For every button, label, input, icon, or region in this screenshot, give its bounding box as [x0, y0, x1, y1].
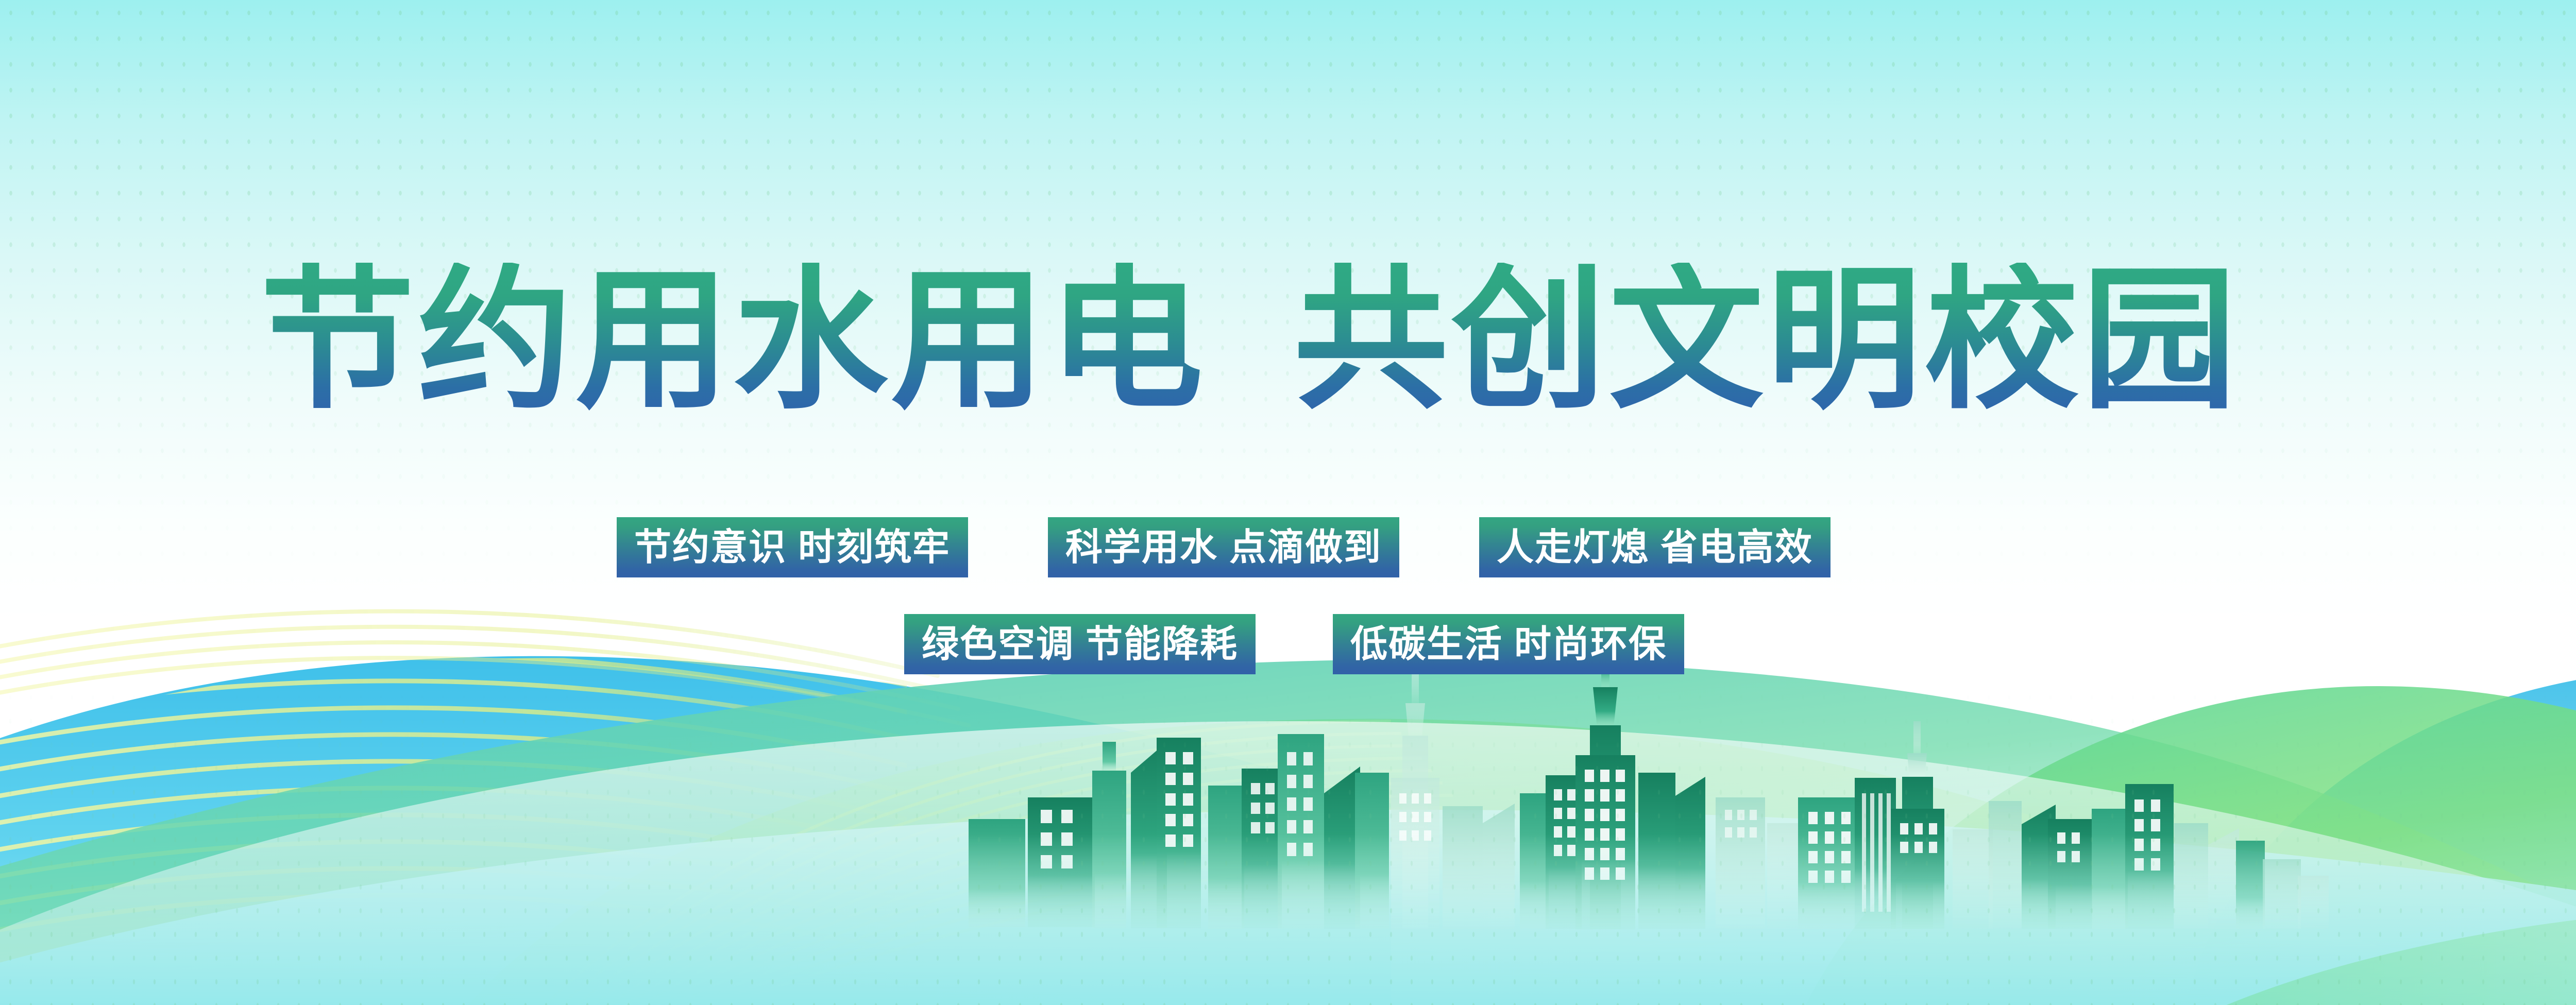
banner-title: 节约用水用电 共创文明校园 — [260, 242, 2576, 438]
slogan-badge: 低碳生活 时尚环保 — [1333, 614, 1684, 674]
slogan-badge: 绿色空调 节能降耗 — [904, 614, 1256, 674]
slogan-badge: 科学用水 点滴做到 — [1048, 517, 1399, 577]
slogan-row-top: 节约意识 时刻筑牢 科学用水 点滴做到 人走灯熄 省电高效 — [617, 517, 1831, 577]
title-part-2: 共创文明校园 — [1294, 263, 2240, 417]
eco-campaign-banner: 节约用水用电 共创文明校园 节约意识 时刻筑牢 科学用水 点滴做到 人走灯熄 省… — [0, 0, 2576, 1005]
slogan-row-bottom: 绿色空调 节能降耗 低碳生活 时尚环保 — [904, 614, 1684, 674]
slogan-badge: 节约意识 时刻筑牢 — [617, 517, 968, 577]
title-part-1: 节约用水用电 — [260, 263, 1206, 417]
background-dot-pattern-bottom — [0, 686, 2576, 1005]
slogan-badge: 人走灯熄 省电高效 — [1479, 517, 1831, 577]
